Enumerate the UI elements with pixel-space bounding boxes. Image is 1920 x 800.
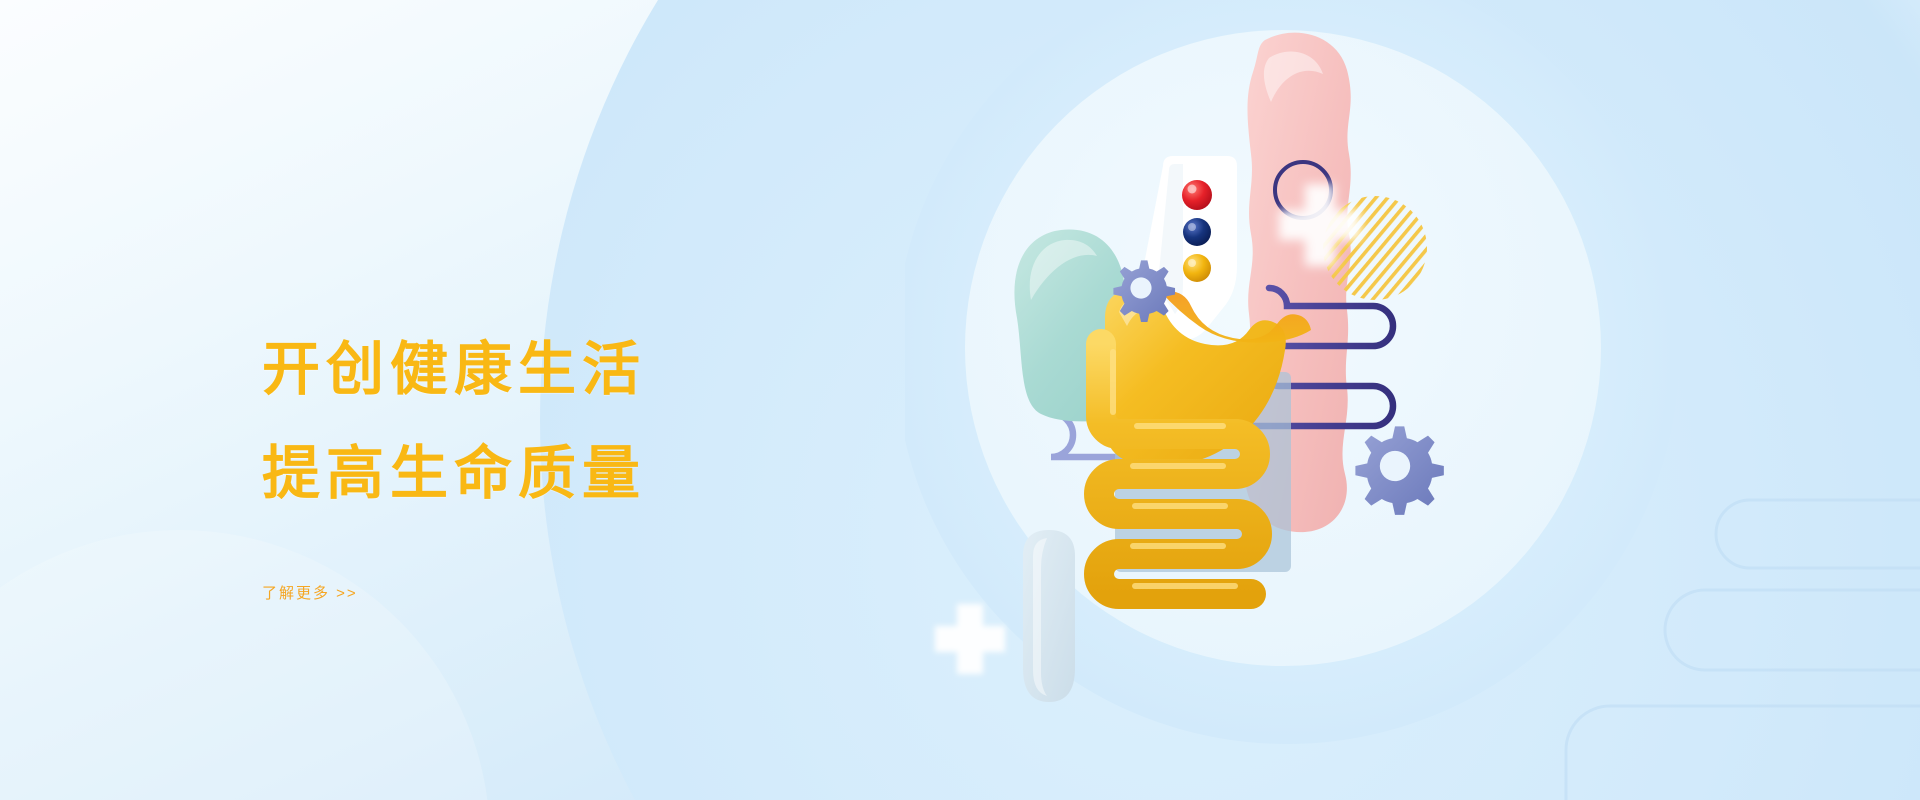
- capsule-dots-red-navy-gold: [1182, 180, 1212, 282]
- learn-more-link[interactable]: 了解更多 >>: [262, 582, 358, 603]
- gear-icon-small: [1113, 260, 1175, 322]
- white-cross-small: [935, 604, 1005, 674]
- page-title-line-1: 开创健康生活: [262, 318, 902, 422]
- hero-banner: 开创健康生活 提高生命质量 了解更多 >>: [0, 0, 1920, 800]
- gear-icon-large: [1355, 426, 1443, 514]
- page-title-line-2: 提高生命质量: [262, 422, 902, 526]
- hero-copy: 开创健康生活 提高生命质量 了解更多 >>: [262, 318, 902, 603]
- bladder-grey-organ: [1023, 530, 1075, 702]
- digestive-system-illustration: [905, 0, 1685, 800]
